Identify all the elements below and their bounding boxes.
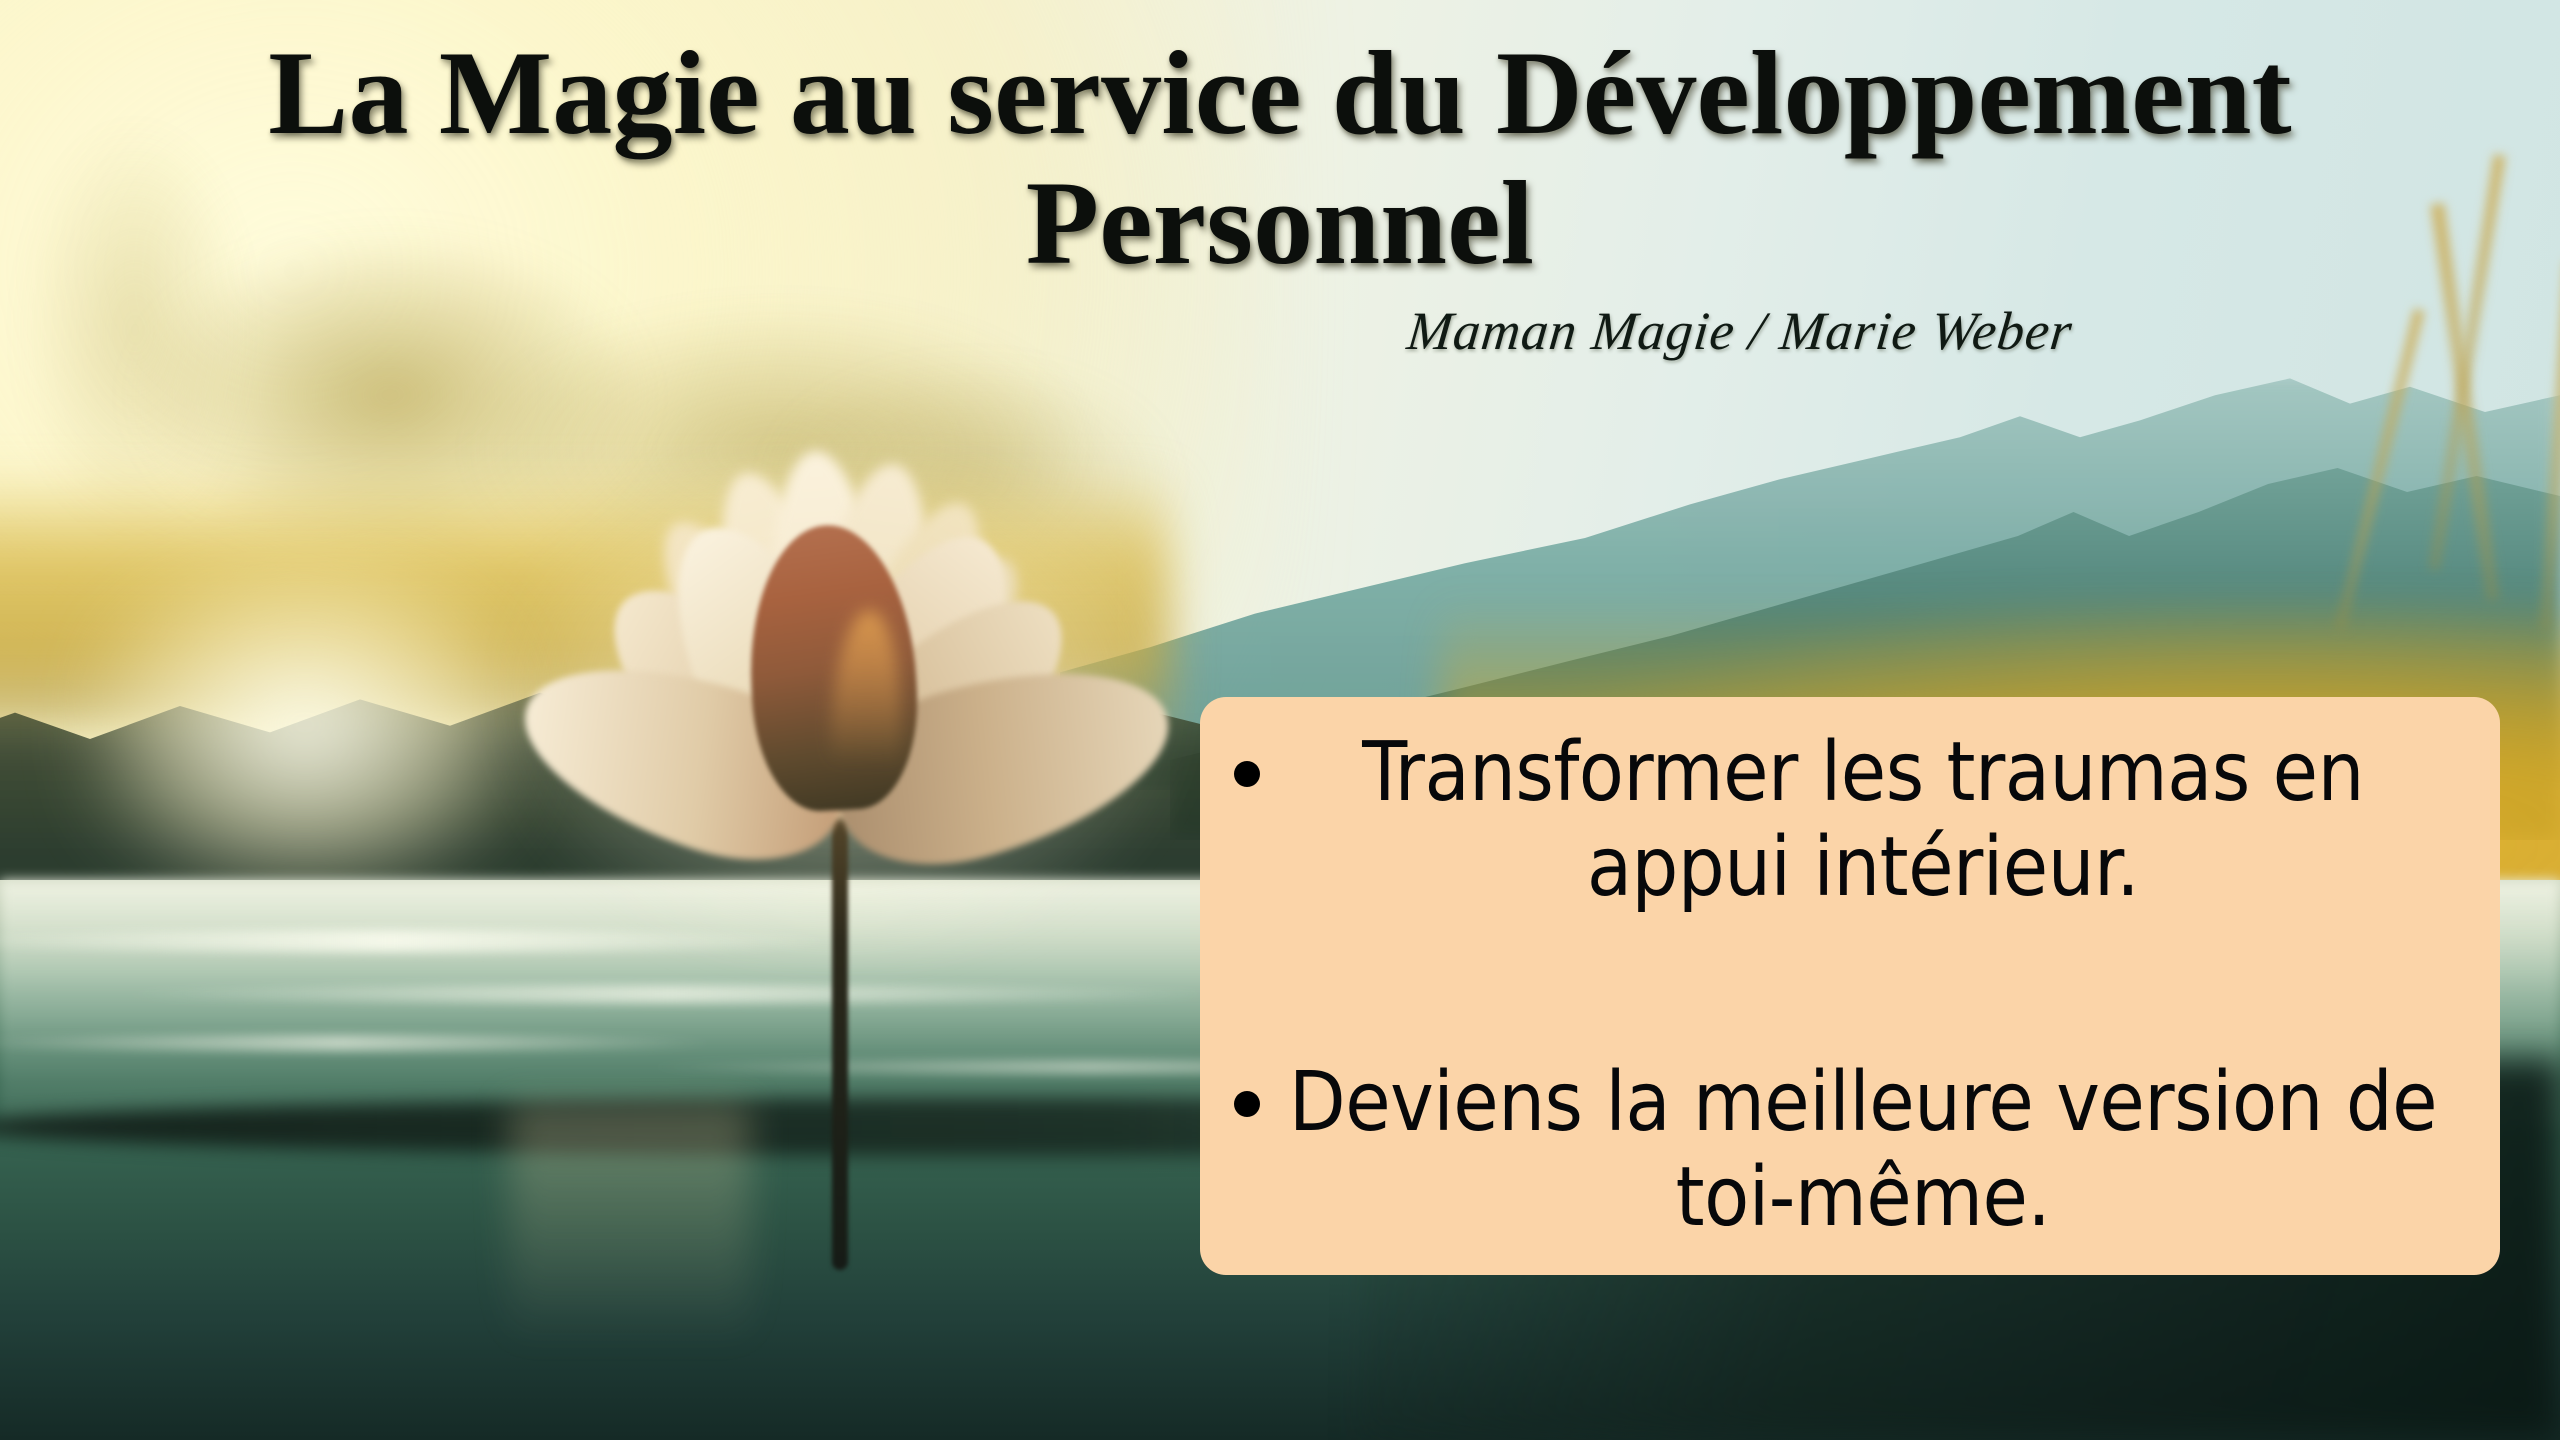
- bullet-text: Transformer les traumas en appui intérie…: [1286, 725, 2458, 915]
- bullet-dot-icon: [1234, 1091, 1260, 1117]
- lotus-reflection: [510, 1105, 750, 1405]
- author-byline: Maman Magie / Marie Weber: [997, 300, 2484, 362]
- lotus-stem: [832, 800, 848, 1270]
- bullet-text: Deviens la meilleure version de toi-même…: [1286, 1055, 2458, 1245]
- bullet-dot-icon: [1234, 761, 1260, 787]
- slide-canvas: La Magie au service du Développement Per…: [0, 0, 2560, 1440]
- page-title: La Magie au service du Développement Per…: [140, 28, 2420, 287]
- list-item: Transformer les traumas en appui intérie…: [1234, 725, 2458, 915]
- list-item: Deviens la meilleure version de toi-même…: [1234, 1055, 2458, 1245]
- bullet-card: Transformer les traumas en appui intérie…: [1200, 697, 2500, 1275]
- lotus-flower: [430, 330, 1250, 1110]
